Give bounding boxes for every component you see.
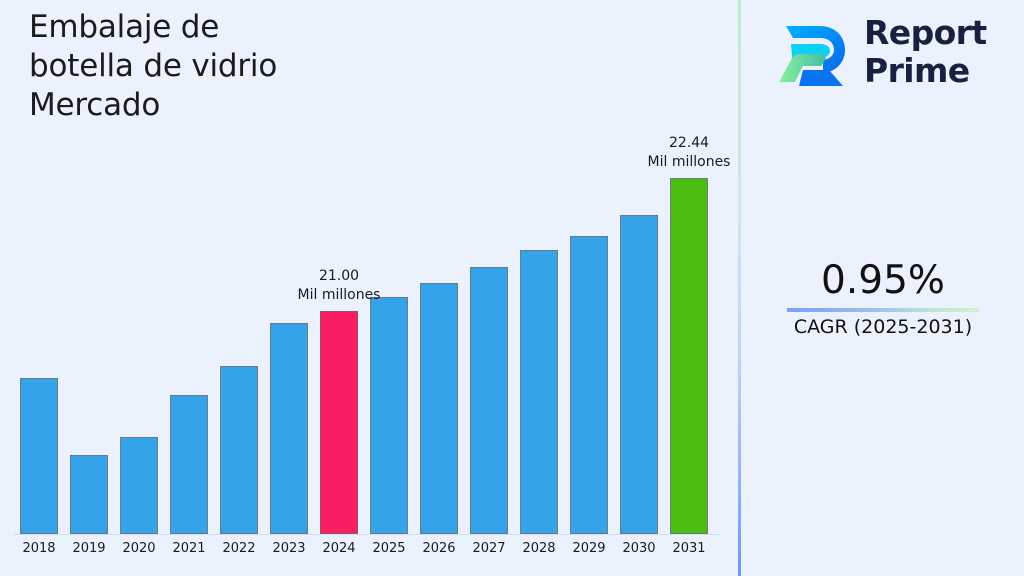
report-prime-logo: Report Prime (777, 14, 1002, 94)
value-label-2024: 21.00 Mil millones (264, 267, 414, 305)
x-tick-2021: 2021 (164, 540, 214, 558)
x-tick-2018: 2018 (14, 540, 64, 558)
chart-poster: Embalaje de botella de vidrio Mercado 20… (0, 0, 1024, 576)
x-tick-2028: 2028 (514, 540, 564, 558)
bar-2031 (670, 178, 708, 534)
bar-2021 (170, 395, 208, 534)
x-tick-2023: 2023 (264, 540, 314, 558)
bar-chart-plot: 2018201920202021202220232024202520262027… (0, 0, 738, 576)
bar-2029 (570, 236, 608, 534)
x-axis-line (14, 534, 720, 535)
x-tick-2024: 2024 (314, 540, 364, 558)
bar-2023 (270, 323, 308, 534)
x-tick-2031: 2031 (664, 540, 714, 558)
cagr-caption: CAGR (2025-2031) (752, 314, 1014, 340)
cagr-value: 0.95% (752, 258, 1014, 304)
x-tick-2020: 2020 (114, 540, 164, 558)
logo-text: Report Prime (864, 14, 1004, 90)
cagr-block: 0.95% CAGR (2025-2031) (752, 258, 1014, 340)
bar-2027 (470, 267, 508, 534)
bar-2022 (220, 366, 258, 534)
bar-2018 (20, 378, 58, 534)
bar-2026 (420, 283, 458, 534)
x-tick-2026: 2026 (414, 540, 464, 558)
value-label-2031: 22.44 Mil millones (614, 134, 764, 172)
bar-2019 (70, 455, 108, 534)
x-tick-2029: 2029 (564, 540, 614, 558)
cagr-divider (787, 308, 979, 312)
panel-divider (738, 0, 741, 576)
x-tick-2025: 2025 (364, 540, 414, 558)
report-prime-r-mark (777, 16, 849, 92)
bar-2025 (370, 297, 408, 534)
x-tick-2030: 2030 (614, 540, 664, 558)
x-tick-2019: 2019 (64, 540, 114, 558)
bar-2020 (120, 437, 158, 534)
x-tick-2022: 2022 (214, 540, 264, 558)
bar-2028 (520, 250, 558, 534)
bar-2024 (320, 311, 358, 534)
bar-2030 (620, 215, 658, 534)
x-tick-2027: 2027 (464, 540, 514, 558)
